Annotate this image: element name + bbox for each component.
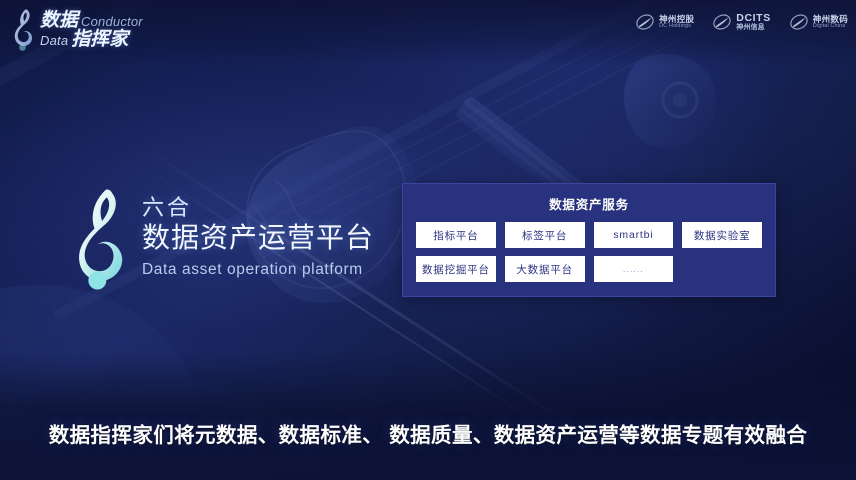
treble-clef-icon (74, 186, 132, 290)
hero-title-block: 六合 数据资产运营平台 Data asset operation platfor… (74, 186, 374, 290)
service-tile-more[interactable]: ...... (594, 256, 674, 282)
background-bottom-fade (0, 350, 856, 480)
partner-text-dc-holdings: 神州控股 DC Holdings (659, 15, 694, 30)
hero-subtitle-cn: 六合 (142, 195, 374, 220)
partner-logos: 神州控股 DC Holdings DCITS 神州信息 (635, 12, 848, 32)
service-tile-indicator-platform[interactable]: 指标平台 (416, 222, 496, 248)
brand-line-2: Data 指挥家 (40, 30, 143, 49)
service-tile-grid: 指标平台 标签平台 smartbi 数据实验室 数据挖掘平台 大数据平台 ...… (416, 222, 762, 282)
brand-logo: 数据 Conductor Data 指挥家 (12, 6, 143, 54)
partner-name-en: 神州信息 (736, 24, 771, 31)
partner-name-en: Digital China (813, 24, 848, 30)
service-tile-empty-slot (682, 256, 762, 282)
partner-text-digital-china: 神州数码 Digital China (813, 15, 848, 30)
partner-name-en: DC Holdings (659, 24, 694, 30)
swoosh-logo-icon (712, 12, 732, 32)
hero-title-lines: 六合 数据资产运营平台 Data asset operation platfor… (142, 195, 374, 281)
partner-text-dcits: DCITS 神州信息 (736, 13, 771, 31)
hero-title-cn: 数据资产运营平台 (142, 220, 374, 256)
partner-logo-digital-china: 神州数码 Digital China (789, 12, 848, 32)
service-tile-data-lab[interactable]: 数据实验室 (682, 222, 762, 248)
slide-header: 数据 Conductor Data 指挥家 神州控股 (0, 0, 856, 60)
treble-clef-icon (12, 7, 38, 53)
service-tile-data-mining-platform[interactable]: 数据挖掘平台 (416, 256, 496, 282)
brand-cn-2: 指挥家 (71, 30, 128, 49)
service-tile-tag-platform[interactable]: 标签平台 (505, 222, 585, 248)
swoosh-logo-icon (635, 12, 655, 32)
brand-cn-1: 数据 (40, 11, 78, 30)
slide-canvas: 数据 Conductor Data 指挥家 神州控股 (0, 0, 856, 480)
partner-logo-dcits: DCITS 神州信息 (712, 12, 771, 32)
brand-wordmark: 数据 Conductor Data 指挥家 (40, 11, 143, 49)
service-panel-title: 数据资产服务 (403, 194, 775, 213)
service-tile-big-data-platform[interactable]: 大数据平台 (505, 256, 585, 282)
brand-en-1: Conductor (81, 15, 143, 28)
hero-title-en: Data asset operation platform (142, 258, 374, 281)
slide-caption: 数据指挥家们将元数据、数据标准、 数据质量、数据资产运营等数据专题有效融合 (0, 418, 856, 448)
service-tile-smartbi[interactable]: smartbi (594, 222, 674, 248)
partner-name-cn: DCITS (736, 13, 771, 24)
brand-en-2: Data (40, 34, 68, 47)
swoosh-logo-icon (789, 12, 809, 32)
data-asset-service-panel: 数据资产服务 指标平台 标签平台 smartbi 数据实验室 数据挖掘平台 大数… (402, 183, 776, 297)
partner-logo-dc-holdings: 神州控股 DC Holdings (635, 12, 694, 32)
brand-line-1: 数据 Conductor (40, 11, 143, 30)
